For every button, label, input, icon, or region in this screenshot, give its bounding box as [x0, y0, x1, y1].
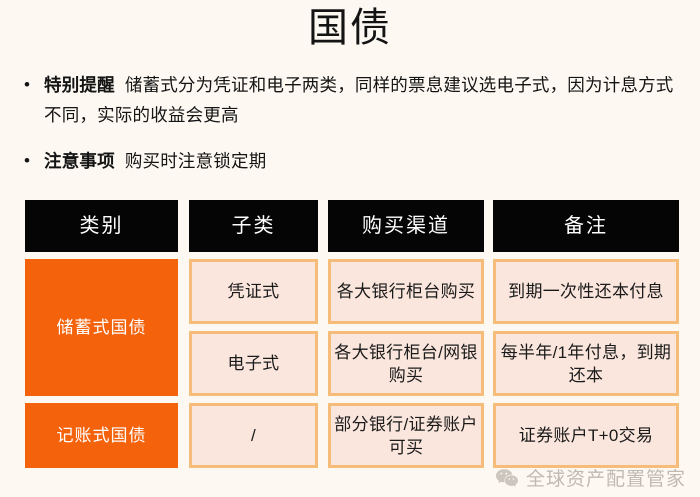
bullet-text: 注意事项购买时注意锁定期 [44, 146, 676, 176]
table-cell-subtype: 电子式 [189, 331, 318, 396]
bullet-text: 特别提醒储蓄式分为凭证和电子两类，同样的票息建议选电子式，因为计息方式不同，实际… [44, 70, 676, 130]
table-header-cell-category: 类别 [25, 200, 178, 252]
table-row: 凭证式 各大银行柜台购买 到期一次性还本付息 [178, 259, 680, 324]
table-cell-note: 证券账户T+0交易 [493, 403, 679, 468]
list-item: • 特别提醒储蓄式分为凭证和电子两类，同样的票息建议选电子式，因为计息方式不同，… [22, 70, 676, 130]
table-row-group-bookentry: 记账式国债 / 部分银行/证券账户可买 证券账户T+0交易 [25, 403, 680, 468]
table-cell-channel: 部分银行/证券账户可买 [328, 403, 484, 468]
table-header-cell-channel: 购买渠道 [328, 200, 484, 252]
table-category-cell: 储蓄式国债 [25, 259, 178, 396]
table-header-row: 类别 子类 购买渠道 备注 [25, 200, 680, 252]
bullet-marker-icon: • [22, 70, 44, 100]
table-category-cell: 记账式国债 [25, 403, 178, 468]
bullet-body-text: 购买时注意锁定期 [125, 151, 267, 171]
table-cell-subtype: 凭证式 [189, 259, 318, 324]
watermark-text: 全球资产配置管家 [526, 464, 686, 491]
table-row: / 部分银行/证券账户可买 证券账户T+0交易 [178, 403, 680, 468]
table-row: 电子式 各大银行柜台/网银购买 每半年/1年付息，到期还本 [178, 331, 680, 396]
page-title: 国债 [0, 0, 700, 48]
table-row-group-savings: 储蓄式国债 凭证式 各大银行柜台购买 到期一次性还本付息 电子式 各大银行柜台/… [25, 259, 680, 396]
table-cell-subtype: / [189, 403, 318, 468]
table-header-cell-subtype: 子类 [189, 200, 318, 252]
bullet-list: • 特别提醒储蓄式分为凭证和电子两类，同样的票息建议选电子式，因为计息方式不同，… [0, 70, 700, 176]
comparison-table: 类别 子类 购买渠道 备注 储蓄式国债 凭证式 各大银行柜台购买 到期一次性还本… [25, 200, 680, 468]
table-cell-note: 到期一次性还本付息 [493, 259, 679, 324]
table-cell-channel: 各大银行柜台购买 [328, 259, 484, 324]
bullet-marker-icon: • [22, 146, 44, 176]
table-header-cell-note: 备注 [493, 200, 679, 252]
list-item: • 注意事项购买时注意锁定期 [22, 146, 676, 176]
bullet-body-text: 储蓄式分为凭证和电子两类，同样的票息建议选电子式，因为计息方式不同，实际的收益会… [44, 75, 674, 125]
wechat-icon [494, 465, 520, 491]
table-cell-channel: 各大银行柜台/网银购买 [328, 331, 484, 396]
watermark: 全球资产配置管家 [494, 464, 686, 491]
bullet-lead-label: 特别提醒 [44, 75, 115, 95]
bullet-lead-label: 注意事项 [44, 151, 115, 171]
table-cell-note: 每半年/1年付息，到期还本 [493, 331, 679, 396]
